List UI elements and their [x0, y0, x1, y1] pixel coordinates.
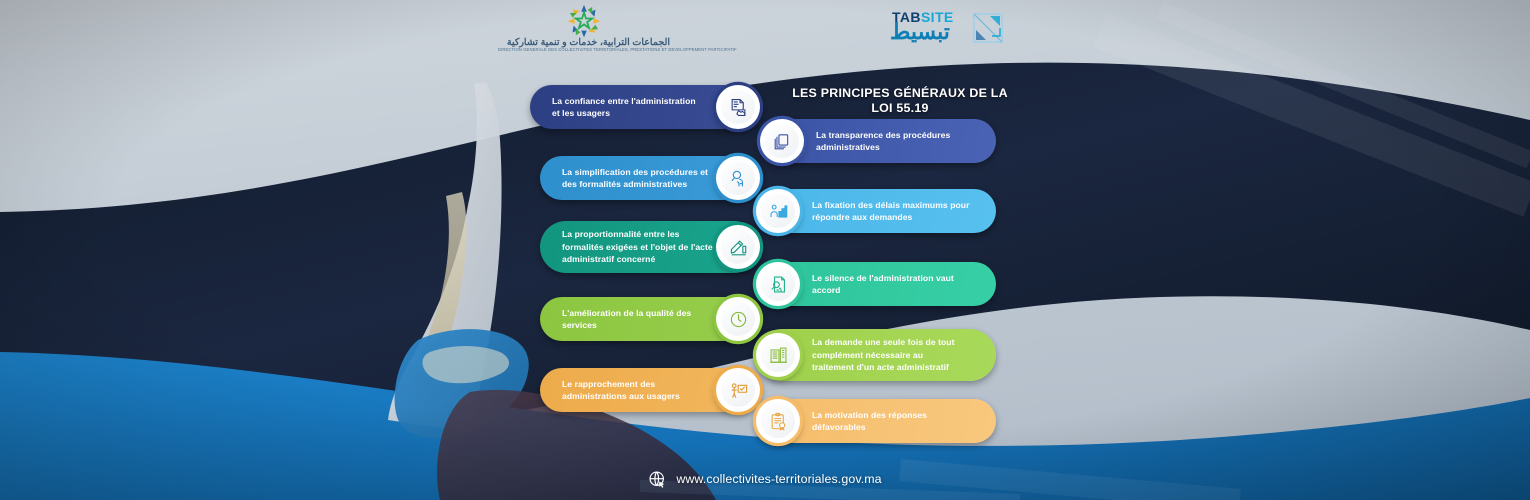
principle-item-6[interactable]: Le silence de l'administration vaut acco… — [756, 262, 996, 306]
principles-chain: La confiance entre l'administration et l… — [0, 0, 1530, 500]
stacked-documents-icon — [773, 132, 792, 151]
principle-icon-bubble-6[interactable] — [756, 262, 800, 306]
principle-item-1[interactable]: La confiance entre l'administration et l… — [530, 85, 760, 129]
document-handshake-icon — [729, 98, 748, 117]
principle-label-4: La fixation des délais maximums pour rép… — [812, 199, 970, 224]
principle-item-8[interactable]: La demande une seule fois de tout complé… — [756, 329, 996, 381]
clipboard-seal-icon — [769, 412, 788, 431]
gov-logo-french-text: DIRECTION GENERALE DES COLLECTIVITES TER… — [498, 47, 670, 52]
tabsite-geometric-mark-icon — [970, 10, 1006, 46]
principle-label-2: La transparence des procédures administr… — [816, 129, 950, 154]
principle-item-7[interactable]: L'amélioration de la qualité des service… — [540, 297, 760, 341]
bar-chart-person-icon — [769, 202, 788, 221]
signing-pen-icon — [729, 238, 748, 257]
tabsite-arabic-text: تبسيط — [890, 21, 950, 43]
principle-item-3[interactable]: La simplification des procédures et des … — [540, 156, 760, 200]
principle-item-9[interactable]: Le rapprochement des administrations aux… — [540, 368, 760, 412]
principle-item-4[interactable]: La fixation des délais maximums pour rép… — [756, 189, 996, 233]
principle-item-5[interactable]: La proportionnalité entre les formalités… — [540, 221, 760, 273]
quality-gauge-icon — [729, 310, 748, 329]
moroccan-star-emblem-icon — [558, 4, 610, 40]
principle-icon-bubble-10[interactable] — [756, 399, 800, 443]
principle-label-7: L'amélioration de la qualité des service… — [562, 307, 691, 332]
ministry-of-interior-logo: الجماعات الترابية، خدمات و تنمية تشاركية… — [498, 4, 670, 56]
person-checklist-icon — [729, 381, 748, 400]
magnifier-hand-icon — [729, 169, 748, 188]
principle-icon-bubble-4[interactable] — [756, 189, 800, 233]
principle-label-9: Le rapprochement des administrations aux… — [562, 378, 680, 403]
principle-label-5: La proportionnalité entre les formalités… — [562, 228, 713, 265]
principle-label-1: La confiance entre l'administration et l… — [552, 95, 696, 120]
globe-cursor-icon — [648, 470, 667, 489]
principle-icon-bubble-7[interactable] — [716, 297, 760, 341]
document-search-icon — [769, 275, 788, 294]
principle-label-6: Le silence de l'administration vaut acco… — [812, 272, 972, 297]
building-document-icon — [769, 346, 788, 365]
principle-icon-bubble-3[interactable] — [716, 156, 760, 200]
principle-icon-bubble-1[interactable] — [716, 85, 760, 129]
tabsite-logo: TABSITE تبسيط — [892, 8, 1004, 50]
principle-label-8: La demande une seule fois de tout complé… — [812, 336, 955, 373]
principle-icon-bubble-5[interactable] — [716, 225, 760, 269]
principle-label-10: La motivation des réponses défavorables — [812, 409, 927, 434]
footer: www.collectivites-territoriales.gov.ma — [0, 464, 1530, 494]
principle-icon-bubble-8[interactable] — [756, 333, 800, 377]
principle-icon-bubble-2[interactable] — [760, 119, 804, 163]
website-url[interactable]: www.collectivites-territoriales.gov.ma — [676, 472, 881, 486]
principle-item-10[interactable]: La motivation des réponses défavorables — [756, 399, 996, 443]
principle-item-2[interactable]: La transparence des procédures administr… — [760, 119, 996, 163]
principle-label-3: La simplification des procédures et des … — [562, 166, 708, 191]
principle-icon-bubble-9[interactable] — [716, 368, 760, 412]
page-title: LES PRINCIPES GÉNÉRAUX DE LA LOI 55.19 — [790, 86, 1010, 116]
